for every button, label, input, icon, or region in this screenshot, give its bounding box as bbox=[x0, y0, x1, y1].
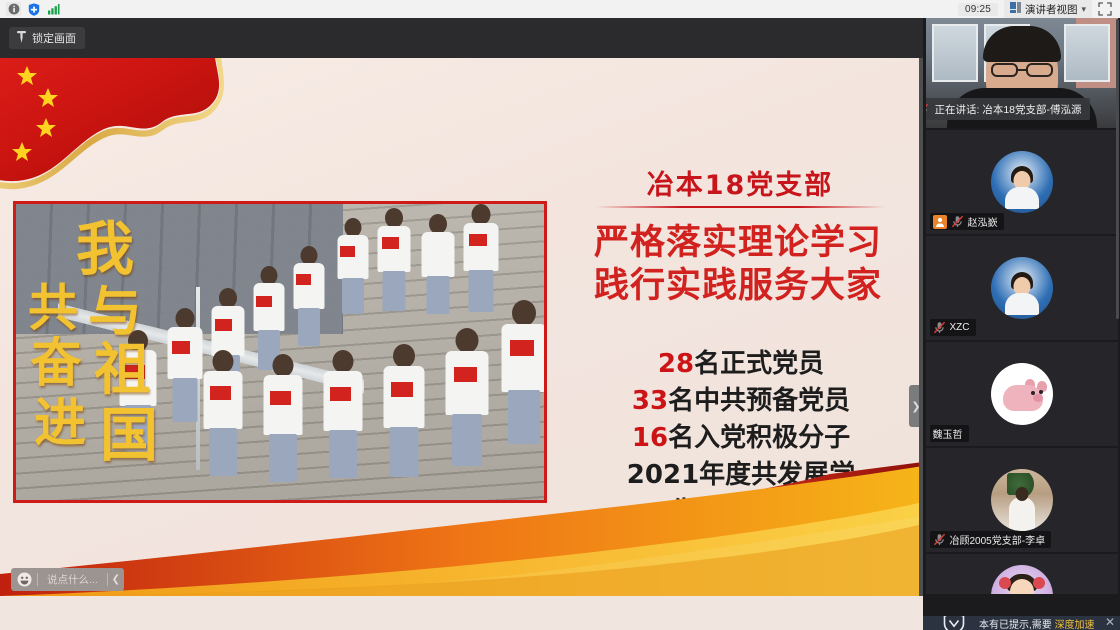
notification-message: 本有已提示,需要 bbox=[979, 620, 1052, 630]
stat-row: 生党员33人 bbox=[560, 494, 922, 531]
close-icon[interactable]: ✕ bbox=[1105, 616, 1115, 629]
view-mode-button[interactable]: 演讲者视图 ▾ bbox=[1004, 0, 1092, 19]
microphone-muted-icon bbox=[933, 321, 946, 334]
avatar bbox=[991, 469, 1053, 531]
participant-tile[interactable]: 冶顾2005党支部-李卓 bbox=[926, 448, 1118, 552]
photo-overlay-char7: 进 bbox=[34, 400, 86, 450]
stat-text: 名中共预备党员 bbox=[668, 386, 850, 416]
stat-suffix: 人 bbox=[785, 497, 811, 527]
participants-panel: 正在讲话: 冶本18党支部-傅泓源 G 拼 A bbox=[923, 18, 1120, 630]
host-badge-icon bbox=[933, 215, 947, 229]
fullscreen-icon[interactable] bbox=[1098, 2, 1112, 16]
avatar-rose-2 bbox=[1033, 577, 1045, 589]
shield-logo-icon bbox=[937, 616, 971, 630]
avatar bbox=[991, 363, 1053, 425]
stat-number: 16 bbox=[632, 423, 668, 453]
flag-decoration-icon bbox=[0, 58, 266, 194]
stat-row: 28名正式党员 bbox=[560, 346, 922, 383]
avatar-body bbox=[1005, 293, 1039, 315]
avatar-body bbox=[1009, 497, 1035, 531]
participant-tile[interactable]: 魏玉哲 bbox=[926, 342, 1118, 446]
stat-number: 28 bbox=[658, 349, 694, 379]
chevron-down-icon[interactable]: ▾ bbox=[1081, 4, 1086, 15]
participant-name: 冶顾2005党支部-李卓 bbox=[950, 532, 1046, 547]
glasses-icon bbox=[991, 62, 1053, 77]
signal-bars-icon[interactable] bbox=[46, 2, 61, 16]
slide-title: 严格落实理论学习 践行实践服务大家 bbox=[552, 222, 923, 307]
participant-name-chip: XZC bbox=[930, 319, 976, 336]
participant-name: XZC bbox=[950, 322, 970, 333]
avatar bbox=[991, 257, 1053, 319]
stat-number: 33 bbox=[632, 386, 668, 416]
photo-overlay-char2: 与 bbox=[88, 286, 142, 338]
stat-row: 33名中共预备党员 bbox=[560, 383, 922, 420]
pin-icon bbox=[16, 30, 27, 46]
slide-statistics: 28名正式党员 33名中共预备党员 16名入党积极分子 2021年度共发展学 生… bbox=[560, 346, 922, 531]
chat-input[interactable]: 说点什么... bbox=[38, 572, 107, 587]
participant-tile[interactable]: G 拼 A 赵泓嶔 bbox=[926, 130, 1118, 234]
stat-text: 年度共发展学 bbox=[699, 460, 855, 490]
speaker-video-tile[interactable]: 正在讲话: 冶本18党支部-傅泓源 bbox=[926, 18, 1118, 128]
shield-plus-icon[interactable] bbox=[26, 2, 41, 16]
layout-icon bbox=[1010, 2, 1021, 16]
smiley-icon[interactable] bbox=[11, 572, 37, 587]
slide-subtitle: 冶本18党支部 bbox=[560, 163, 920, 202]
participant-name-chip: 赵泓嶔 bbox=[930, 213, 1004, 230]
lock-screen-button[interactable]: 锁定画面 bbox=[9, 27, 85, 49]
slide-title-line-1: 严格落实理论学习 bbox=[552, 222, 923, 265]
participant-tile[interactable] bbox=[926, 554, 1118, 594]
stat-text: 名入党积极分子 bbox=[668, 423, 850, 453]
notification-bar[interactable]: 本有已提示,需要 深度加速 ✕ bbox=[923, 616, 1120, 630]
slide-divider bbox=[595, 206, 885, 208]
stat-row: 2021年度共发展学 bbox=[560, 457, 922, 494]
speaking-label: 正在讲话: 冶本18党支部-傅泓源 bbox=[935, 102, 1082, 117]
avatar-rose bbox=[999, 577, 1011, 589]
microphone-muted-icon bbox=[951, 215, 964, 228]
slide-photo: 我 与 祖 国 共 奋 进 bbox=[13, 201, 547, 503]
photo-overlay-char4: 国 bbox=[100, 408, 158, 464]
stat-number: 33 bbox=[749, 497, 785, 527]
photo-overlay-char3: 祖 bbox=[94, 344, 150, 398]
info-circle-icon[interactable] bbox=[6, 2, 21, 16]
participant-name-chip: 魏玉哲 bbox=[930, 425, 969, 442]
participant-name-chip: 冶顾2005党支部-李卓 bbox=[930, 531, 1052, 548]
avatar-snout bbox=[1033, 394, 1043, 402]
photo-overlay-line1: 我 bbox=[76, 222, 134, 278]
participant-name: 赵泓嶔 bbox=[968, 214, 998, 229]
shared-screen-slide[interactable]: 我 与 祖 国 共 奋 进 冶本18党支部 严格落实理论学习 践行实践服务大家 … bbox=[0, 58, 923, 596]
microphone-muted-icon bbox=[933, 533, 946, 546]
meeting-toolbar bbox=[0, 18, 923, 58]
system-tray-right: 09:25 演讲者视图 ▾ bbox=[958, 0, 1120, 19]
video-window-left bbox=[932, 24, 978, 82]
chat-collapse-icon[interactable]: ❮ bbox=[108, 574, 124, 585]
stat-number: 2021 bbox=[627, 460, 699, 490]
chat-bar bbox=[0, 596, 923, 630]
stat-text: 名正式党员 bbox=[694, 349, 824, 379]
avatar-body bbox=[1005, 187, 1039, 209]
slide-title-line-2: 践行实践服务大家 bbox=[552, 265, 923, 308]
avatar bbox=[991, 565, 1053, 594]
participant-name: 魏玉哲 bbox=[933, 426, 963, 441]
meeting-window: 09:25 演讲者视图 ▾ 锁定画面 bbox=[0, 0, 1120, 630]
photo-overlay-char5: 共 bbox=[28, 284, 78, 332]
avatar bbox=[991, 151, 1053, 213]
stat-text: 生党员 bbox=[671, 497, 749, 527]
microphone-muted-icon bbox=[926, 103, 929, 116]
stat-row: 16名入党积极分子 bbox=[560, 420, 922, 457]
system-tray-left bbox=[0, 2, 61, 16]
clock: 09:25 bbox=[958, 3, 998, 16]
lock-screen-label: 锁定画面 bbox=[32, 30, 76, 46]
avatar-head bbox=[1015, 487, 1028, 501]
chat-input-group[interactable]: 说点什么... ❮ bbox=[11, 568, 124, 591]
speaking-indicator: 正在讲话: 冶本18党支部-傅泓源 bbox=[926, 98, 1090, 120]
system-bar: 09:25 演讲者视图 ▾ bbox=[0, 0, 1120, 18]
participant-tile[interactable]: XZC bbox=[926, 236, 1118, 340]
notification-link[interactable]: 深度加速 bbox=[1055, 620, 1095, 630]
photo-overlay-char6: 奋 bbox=[30, 340, 82, 390]
video-window-right bbox=[1064, 24, 1110, 82]
view-mode-label: 演讲者视图 bbox=[1025, 2, 1078, 17]
speaker-hair bbox=[983, 26, 1061, 62]
panel-scrollbar[interactable] bbox=[1116, 19, 1119, 319]
